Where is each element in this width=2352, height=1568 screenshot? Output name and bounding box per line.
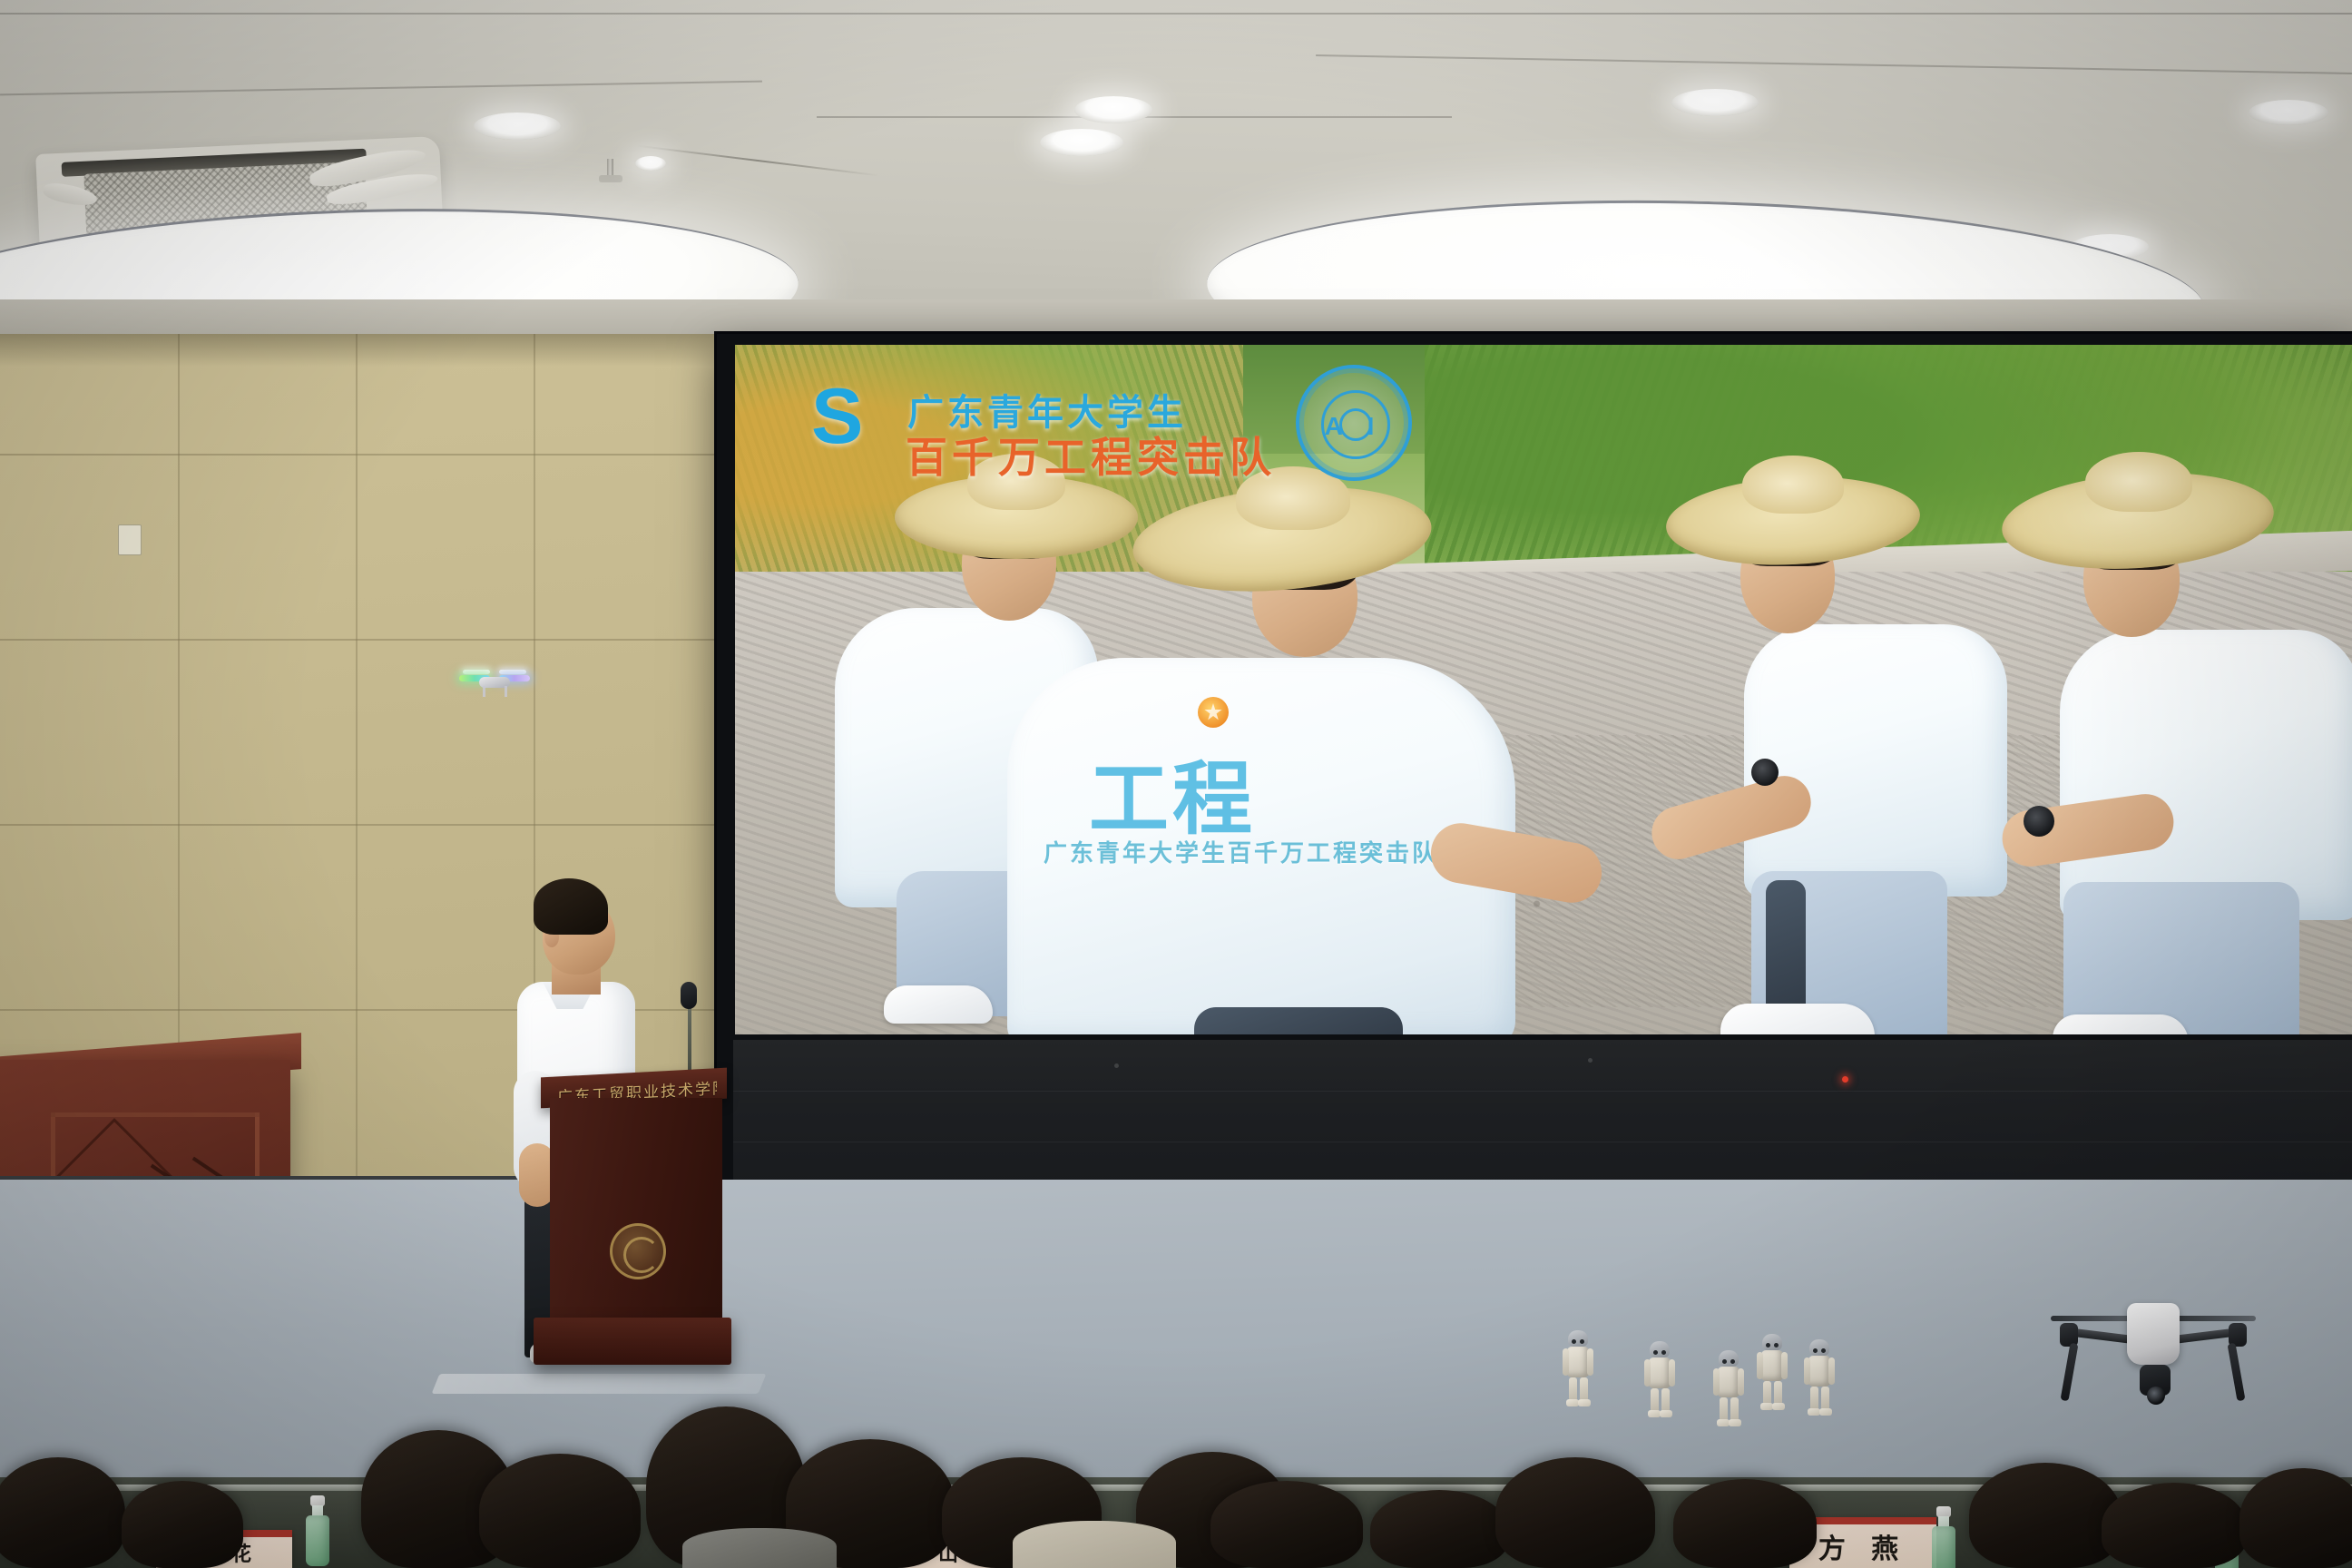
audience-member <box>479 1454 641 1568</box>
humanoid-demo-robot <box>1713 1350 1744 1428</box>
quadcopter-drone <box>2049 1292 2258 1428</box>
recessed-downlight <box>2249 100 2328 125</box>
event-swirl-logo: S <box>811 377 895 461</box>
audience-member <box>122 1481 243 1568</box>
seal-letters: A I <box>1299 412 1408 441</box>
audience-member <box>1969 1463 2122 1568</box>
audience-member <box>1495 1457 1655 1568</box>
audience-member <box>1673 1479 1817 1568</box>
name-card-text: 方 燕 <box>1818 1526 1907 1566</box>
led-panel-lower-strip <box>733 1040 2352 1185</box>
audience-member <box>0 1457 125 1568</box>
microphone-icon <box>681 982 697 1009</box>
floor-light-reflection <box>432 1374 767 1394</box>
audience-member <box>1370 1490 1508 1568</box>
event-seal-icon: A I <box>1296 365 1412 481</box>
fire-sprinkler <box>599 159 622 190</box>
humanoid-demo-robot <box>1757 1334 1788 1412</box>
humanoid-demo-robot <box>1644 1341 1675 1419</box>
recessed-downlight <box>1074 96 1152 123</box>
led-mini-drone <box>459 668 530 699</box>
recessed-downlight <box>474 113 561 140</box>
school-crest-icon <box>610 1223 666 1279</box>
photo-person-2: 工程 广东青年大学生百千万工程突击队 <box>971 463 1570 1034</box>
ceiling <box>0 0 2352 338</box>
shirt-logo-sub: 广东青年大学生百千万工程突击队 <box>1044 835 1438 868</box>
screen-photo: 工程 广东青年大学生百千万工程突击队 <box>735 345 2352 1034</box>
event-subtitle-text: 百千万工程突击队 <box>906 425 1276 485</box>
audience-member <box>1210 1481 1363 1568</box>
shirt-star-badge <box>1198 697 1229 728</box>
photo-person-4 <box>1951 452 2352 1034</box>
podium-base <box>534 1318 731 1365</box>
recessed-downlight <box>1671 89 1759 116</box>
podium-body <box>550 1098 722 1343</box>
stage-floor <box>0 1180 2352 1506</box>
audience-shoulder <box>1013 1521 1176 1568</box>
water-bottle <box>305 1495 330 1568</box>
auditorium-scene: 工程 广东青年大学生百千万工程突击队 <box>0 0 2352 1568</box>
audience-shoulder <box>682 1528 837 1568</box>
audience-member <box>2239 1468 2352 1568</box>
screen-status-led <box>1842 1076 1848 1083</box>
presenter-hair <box>534 878 608 935</box>
led-video-wall[interactable]: 工程 广东青年大学生百千万工程突击队 <box>717 334 2352 1198</box>
wall-socket-plate <box>118 524 142 555</box>
humanoid-demo-robot <box>1563 1330 1593 1408</box>
recessed-downlight <box>635 156 666 171</box>
ceiling-crack <box>636 145 879 177</box>
water-bottle <box>1931 1506 1958 1568</box>
humanoid-demo-robot <box>1804 1339 1835 1417</box>
recessed-downlight <box>1040 129 1123 156</box>
audience-member <box>2102 1483 2247 1568</box>
shirt-logo-main: 工程 <box>1089 735 1256 850</box>
